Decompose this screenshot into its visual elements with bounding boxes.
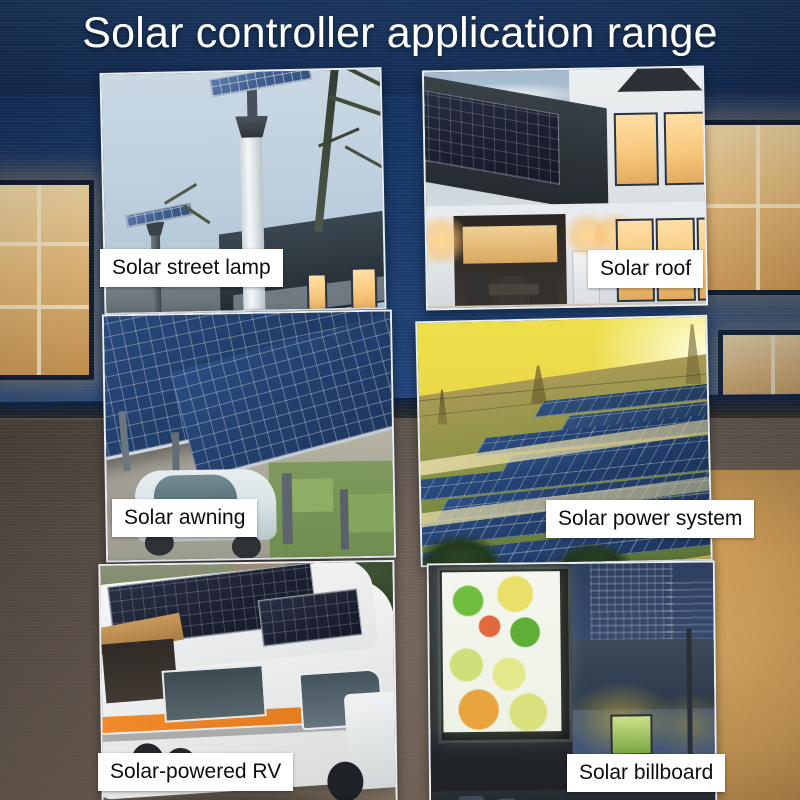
caption-rv: Solar-powered RV	[98, 753, 293, 791]
caption-solar-roof: Solar roof	[588, 250, 703, 288]
caption-billboard: Solar billboard	[567, 754, 725, 792]
caption-street-lamp: Solar street lamp	[100, 249, 283, 287]
poster-root: Solar controller application range	[0, 0, 800, 800]
caption-power-system: Solar power system	[546, 500, 754, 538]
application-gallery	[0, 0, 800, 800]
caption-solar-awning: Solar awning	[112, 499, 257, 537]
